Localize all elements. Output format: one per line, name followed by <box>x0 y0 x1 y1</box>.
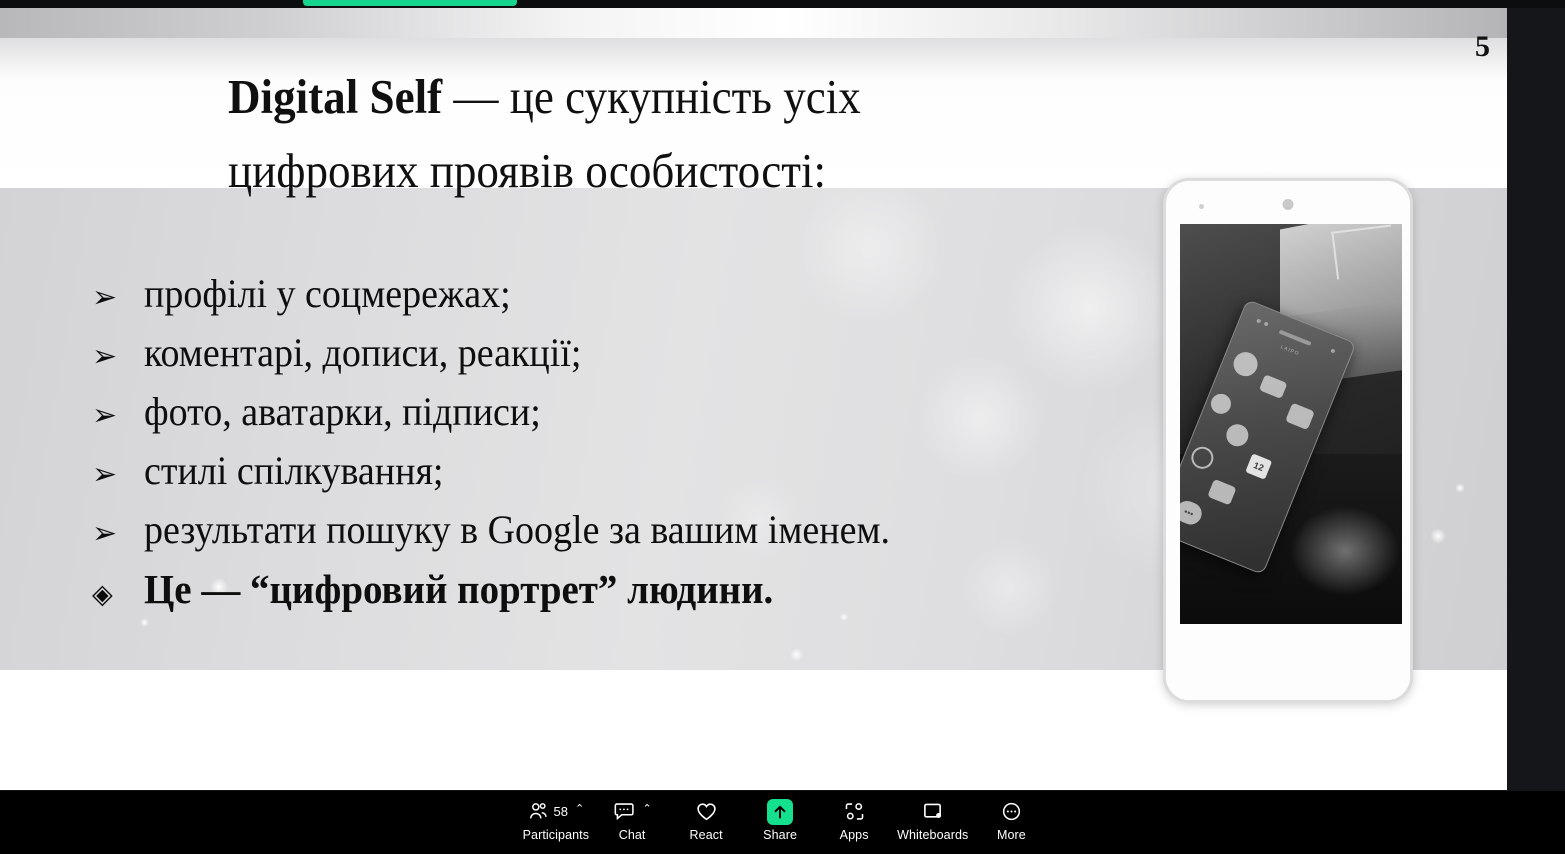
slide-title: Digital Self — це сукупність усіх цифров… <box>228 60 1111 208</box>
arrow-bullet-icon: ➢ <box>92 283 144 313</box>
toolbar-label-apps: Apps <box>840 828 869 842</box>
participants-icon <box>528 798 550 825</box>
toolbar-button-react[interactable]: React <box>669 791 743 842</box>
whiteboard-icon <box>921 798 944 825</box>
app-icon-messages: ••• <box>1180 498 1205 528</box>
app-icon-gallery <box>1259 374 1288 399</box>
slide-number: 5 <box>1475 30 1489 64</box>
slide-top-sheen <box>0 8 1507 38</box>
list-item: ➢ результати пошуку в Google за вашим ім… <box>92 506 1132 565</box>
toolbar-label-share: Share <box>763 828 797 842</box>
photo-glow <box>1290 506 1400 596</box>
floating-toolbar-sliver[interactable] <box>303 0 517 6</box>
list-item-label: результати пошуку в Google за вашим імен… <box>144 506 890 553</box>
app-icon-calendar: 12 <box>1245 453 1272 479</box>
inner-phone-brand: LAIPO <box>1280 344 1301 357</box>
smartphone-mockup-image: LAIPO 12 ••• <box>1163 178 1413 703</box>
phone-sensor-dot <box>1199 204 1204 209</box>
photo-linework <box>1331 225 1396 280</box>
app-icon-settings <box>1207 479 1236 506</box>
bokeh-dot <box>1455 483 1465 493</box>
arrow-bullet-icon: ➢ <box>92 342 144 372</box>
more-ellipsis-icon <box>1000 798 1023 825</box>
share-active-badge <box>767 799 793 825</box>
slide-bullet-list: ➢ профілі у соцмережах; ➢ коментарі, доп… <box>92 270 1132 624</box>
app-icon-photos <box>1285 403 1315 431</box>
shared-screen-slide: 5 Digital Self — це сукупність усіх цифр… <box>0 8 1507 790</box>
participants-count: 58 <box>554 804 568 819</box>
slide-title-rest: — це сукупність усіх <box>442 69 861 124</box>
app-icon-camera <box>1230 349 1261 380</box>
app-icon-browser <box>1223 421 1252 450</box>
chevron-up-icon[interactable]: ⌃ <box>643 804 652 815</box>
list-item: ➢ профілі у соцмережах; <box>92 270 1132 329</box>
toolbar-button-participants[interactable]: 58 ⌃ Participants <box>517 791 596 842</box>
toolbar-button-more[interactable]: More <box>974 791 1048 842</box>
inner-phone-sensor-dot <box>1256 318 1261 323</box>
apps-icon <box>843 798 866 825</box>
chevron-up-icon[interactable]: ⌃ <box>575 804 584 815</box>
toolbar-button-whiteboards[interactable]: Whiteboards <box>891 791 974 842</box>
list-item-label: коментарі, дописи, реакції; <box>144 329 581 376</box>
slide-title-strong: Digital Self <box>228 69 442 124</box>
inner-phone-speaker <box>1279 330 1312 346</box>
chat-icon <box>613 798 636 825</box>
bokeh-dot <box>1430 528 1446 544</box>
toolbar-label-react: React <box>690 828 723 842</box>
list-item-label: профілі у соцмережах; <box>144 270 511 317</box>
list-item: ➢ коментарі, дописи, реакції; <box>92 329 1132 388</box>
app-icon-clock <box>1208 391 1234 417</box>
list-item: ➢ фото, аватарки, підписи; <box>92 388 1132 447</box>
heart-icon <box>695 798 718 825</box>
window-top-strip <box>0 0 1565 8</box>
toolbar-button-apps[interactable]: Apps <box>817 791 891 842</box>
inner-phone-sensor-dot <box>1264 321 1269 326</box>
phone-home-bezel <box>1166 624 1410 700</box>
list-item-label: фото, аватарки, підписи; <box>144 388 541 435</box>
app-icon-compass <box>1188 443 1217 472</box>
toolbar-label-participants: Participants <box>523 828 590 842</box>
arrow-bullet-icon: ➢ <box>92 460 144 490</box>
bokeh-dot <box>790 648 803 661</box>
phone-screen-photo: LAIPO 12 ••• <box>1180 224 1402 624</box>
arrow-bullet-icon: ➢ <box>92 519 144 549</box>
toolbar-label-more: More <box>997 828 1026 842</box>
inner-phone-sensor-dot <box>1330 348 1335 353</box>
phone-front-camera <box>1283 199 1294 210</box>
messages-dots: ••• <box>1180 504 1202 522</box>
diamond-bullet-icon: ◈ <box>92 581 144 608</box>
toolbar-button-chat[interactable]: ⌃ Chat <box>595 791 669 842</box>
toolbar-label-chat: Chat <box>619 828 646 842</box>
slide-title-line2: цифрових проявів особистості: <box>228 134 1111 208</box>
toolbar-button-share[interactable]: Share <box>743 791 817 842</box>
meeting-window: 5 Digital Self — це сукупність усіх цифр… <box>0 0 1565 854</box>
list-item: ➢ стилі спілкування; <box>92 447 1132 506</box>
meeting-control-toolbar: 58 ⌃ Participants ⌃ Chat <box>0 791 1565 854</box>
list-item-label: Це — “цифровий портрет” людини. <box>144 565 773 613</box>
toolbar-label-whiteboards: Whiteboards <box>897 828 968 842</box>
list-item: ◈ Це — “цифровий портрет” людини. <box>92 565 1132 624</box>
share-screen-icon <box>767 798 793 825</box>
arrow-bullet-icon: ➢ <box>92 401 144 431</box>
list-item-label: стилі спілкування; <box>144 447 444 494</box>
